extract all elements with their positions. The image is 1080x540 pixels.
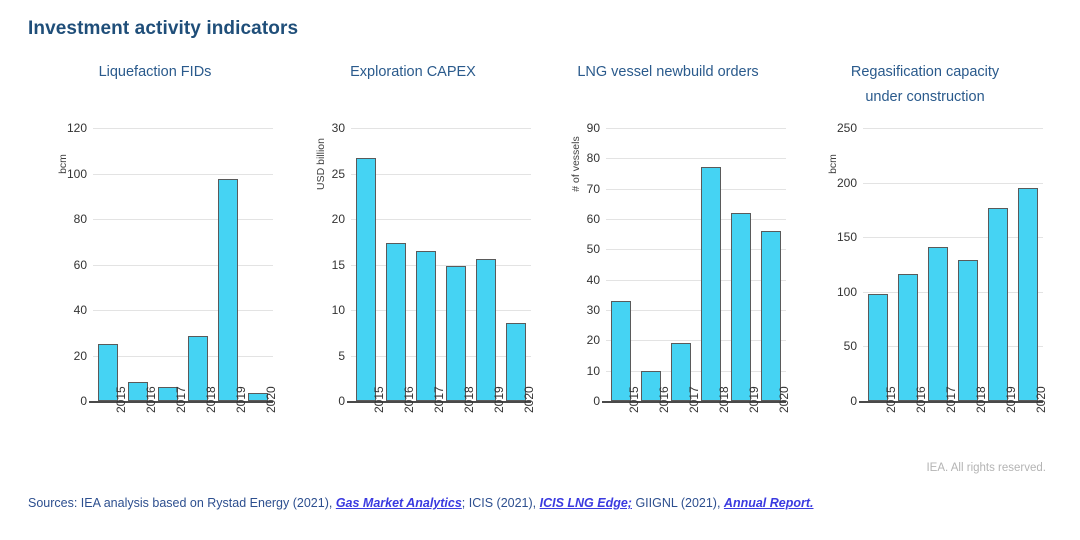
gridline xyxy=(351,265,531,266)
y-axis-title: USD billion xyxy=(315,134,327,194)
x-axis-tick-label: 2018 xyxy=(462,386,476,413)
y-axis-tick-label: 90 xyxy=(587,121,600,135)
gridline xyxy=(606,280,786,281)
bar[interactable] xyxy=(701,167,720,401)
x-axis-tick-label: 2020 xyxy=(522,386,536,413)
x-axis-tick-label: 2019 xyxy=(1004,386,1018,413)
x-axis-tick-label: 2017 xyxy=(944,386,958,413)
sources-line: Sources: IEA analysis based on Rystad En… xyxy=(28,496,814,510)
bar[interactable] xyxy=(898,274,917,401)
source-link-gas-market-analytics[interactable]: Gas Market Analytics xyxy=(336,496,462,510)
y-axis-tick-label: 0 xyxy=(850,394,857,408)
y-axis-tick-label: 80 xyxy=(587,151,600,165)
plot-area: 0102030405060708090201520162017201820192… xyxy=(606,128,786,401)
y-axis-tick-label: 30 xyxy=(332,121,345,135)
y-axis-tick-label: 0 xyxy=(593,394,600,408)
gridline xyxy=(863,237,1043,238)
gridline xyxy=(93,265,273,266)
x-axis-tick-label: 2018 xyxy=(204,386,218,413)
gridline xyxy=(93,356,273,357)
y-axis-title: # of vessels xyxy=(570,134,582,194)
gridline xyxy=(863,183,1043,184)
y-axis-tick-label: 50 xyxy=(844,339,857,353)
gridline xyxy=(93,219,273,220)
y-axis-tick-label: 250 xyxy=(837,121,857,135)
x-axis-tick-label: 2017 xyxy=(432,386,446,413)
gridline xyxy=(606,219,786,220)
chart-title: Liquefaction FIDs xyxy=(30,60,280,85)
x-axis-tick-label: 2015 xyxy=(627,386,641,413)
y-axis-tick-label: 50 xyxy=(587,242,600,256)
page-title: Investment activity indicators xyxy=(28,18,298,40)
gridline xyxy=(863,292,1043,293)
bar[interactable] xyxy=(1018,188,1037,401)
y-axis-tick-label: 30 xyxy=(587,303,600,317)
bar[interactable] xyxy=(958,260,977,401)
y-axis-title: bcm xyxy=(57,134,69,194)
gridline xyxy=(351,219,531,220)
gridline xyxy=(93,174,273,175)
gridline xyxy=(351,128,531,129)
gridline xyxy=(351,174,531,175)
source-link-icis-lng-edge[interactable]: ICIS LNG Edge; xyxy=(540,496,632,510)
y-axis-tick-label: 25 xyxy=(332,167,345,181)
sources-prefix: Sources: IEA analysis based on Rystad En… xyxy=(28,496,336,510)
x-axis-tick-label: 2016 xyxy=(144,386,158,413)
source-link-annual-report[interactable]: Annual Report. xyxy=(724,496,814,510)
x-axis-tick-label: 2016 xyxy=(657,386,671,413)
gridline xyxy=(606,128,786,129)
x-axis-tick-label: 2017 xyxy=(174,386,188,413)
chart-title: LNG vessel newbuild orders xyxy=(543,60,793,85)
bar[interactable] xyxy=(476,259,495,401)
plot-area: 020406080100120201520162017201820192020 xyxy=(93,128,273,401)
chart-panel: LNG vessel newbuild orders01020304050607… xyxy=(543,60,793,260)
x-axis-tick-label: 2016 xyxy=(402,386,416,413)
chart-title-line: under construction xyxy=(800,85,1050,110)
chart-panel: Liquefaction FIDs02040608010012020152016… xyxy=(30,60,280,260)
bar[interactable] xyxy=(386,243,405,401)
x-axis-tick-label: 2018 xyxy=(717,386,731,413)
y-axis-tick-label: 10 xyxy=(587,364,600,378)
x-axis-tick-label: 2017 xyxy=(687,386,701,413)
chart-title-line: LNG vessel newbuild orders xyxy=(543,60,793,85)
gridline xyxy=(606,340,786,341)
bar[interactable] xyxy=(988,208,1007,401)
y-axis-tick-label: 20 xyxy=(332,212,345,226)
bar[interactable] xyxy=(218,179,237,401)
chart-panel: Exploration CAPEX05101520253020152016201… xyxy=(288,60,538,260)
y-axis-tick-label: 60 xyxy=(74,258,87,272)
y-axis-tick-label: 40 xyxy=(74,303,87,317)
chart-title-line: Regasification capacity xyxy=(800,60,1050,85)
x-axis-tick-label: 2015 xyxy=(884,386,898,413)
chart-panel: Regasification capacityunder constructio… xyxy=(800,60,1050,260)
x-axis-tick-label: 2019 xyxy=(747,386,761,413)
gridline xyxy=(93,128,273,129)
bar[interactable] xyxy=(416,251,435,401)
y-axis-tick-label: 0 xyxy=(338,394,345,408)
chart-title-line: Liquefaction FIDs xyxy=(30,60,280,85)
gridline xyxy=(606,310,786,311)
bar[interactable] xyxy=(356,158,375,401)
plot-area: 050100150200250201520162017201820192020 xyxy=(863,128,1043,401)
bar[interactable] xyxy=(731,213,750,401)
x-axis-tick-label: 2015 xyxy=(372,386,386,413)
x-axis-tick-label: 2019 xyxy=(234,386,248,413)
y-axis-tick-label: 120 xyxy=(67,121,87,135)
gridline xyxy=(93,310,273,311)
y-axis-tick-label: 200 xyxy=(837,176,857,190)
y-axis-tick-label: 150 xyxy=(837,230,857,244)
gridline xyxy=(351,310,531,311)
sources-mid-1: ; ICIS (2021), xyxy=(462,496,540,510)
bar[interactable] xyxy=(761,231,780,401)
y-axis-tick-label: 20 xyxy=(587,333,600,347)
y-axis-tick-label: 15 xyxy=(332,258,345,272)
gridline xyxy=(606,249,786,250)
x-axis-tick-label: 2020 xyxy=(777,386,791,413)
bar[interactable] xyxy=(446,266,465,401)
y-axis-tick-label: 40 xyxy=(587,273,600,287)
rights-notice: IEA. All rights reserved. xyxy=(926,462,1046,474)
x-axis-tick-label: 2019 xyxy=(492,386,506,413)
y-axis-tick-label: 80 xyxy=(74,212,87,226)
gridline xyxy=(606,158,786,159)
gridline xyxy=(863,128,1043,129)
x-axis-tick-label: 2015 xyxy=(114,386,128,413)
y-axis-tick-label: 60 xyxy=(587,212,600,226)
bar[interactable] xyxy=(928,247,947,401)
gridline xyxy=(606,189,786,190)
y-axis-tick-label: 0 xyxy=(80,394,87,408)
gridline xyxy=(351,356,531,357)
x-axis-tick-label: 2016 xyxy=(914,386,928,413)
gridline xyxy=(863,346,1043,347)
x-axis-tick-label: 2018 xyxy=(974,386,988,413)
chart-title: Regasification capacityunder constructio… xyxy=(800,60,1050,110)
gridline xyxy=(606,371,786,372)
y-axis-tick-label: 70 xyxy=(587,182,600,196)
x-axis-tick-label: 2020 xyxy=(1034,386,1048,413)
y-axis-tick-label: 100 xyxy=(837,285,857,299)
bar[interactable] xyxy=(868,294,887,401)
x-axis-tick-label: 2020 xyxy=(264,386,278,413)
y-axis-tick-label: 100 xyxy=(67,167,87,181)
y-axis-tick-label: 10 xyxy=(332,303,345,317)
chart-title: Exploration CAPEX xyxy=(288,60,538,85)
y-axis-title: bcm xyxy=(827,134,839,194)
plot-area: 051015202530201520162017201820192020 xyxy=(351,128,531,401)
y-axis-tick-label: 20 xyxy=(74,349,87,363)
sources-mid-2: GIIGNL (2021), xyxy=(632,496,724,510)
y-axis-tick-label: 5 xyxy=(338,349,345,363)
chart-title-line: Exploration CAPEX xyxy=(288,60,538,85)
